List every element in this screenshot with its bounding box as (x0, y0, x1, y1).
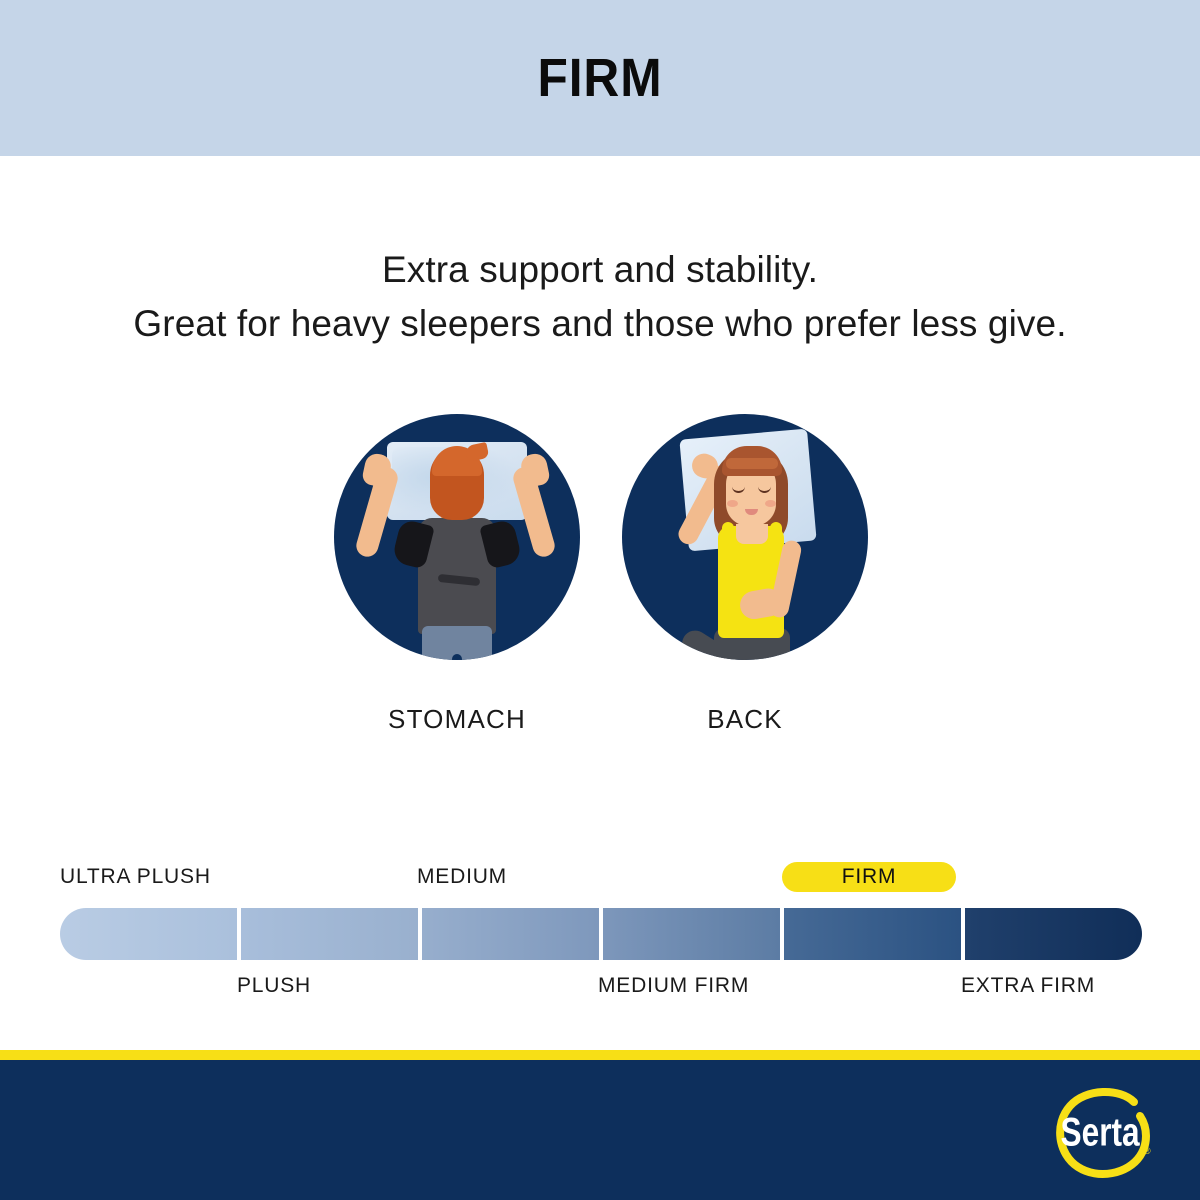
scale-segment-medium-firm[interactable] (603, 908, 780, 960)
sleep-position-label-back: BACK (622, 704, 868, 735)
sleep-position-label-stomach: STOMACH (334, 704, 580, 735)
page-header: FIRM (0, 0, 1200, 156)
serta-logo[interactable]: Serta ® (1048, 1082, 1158, 1182)
firmness-scale-bar[interactable] (60, 908, 1142, 960)
page-title: FIRM (537, 47, 662, 109)
svg-text:Serta: Serta (1061, 1109, 1141, 1155)
hair-band (726, 458, 778, 469)
page-footer: Serta ® (0, 1060, 1200, 1200)
scale-segment-firm[interactable] (784, 908, 961, 960)
stomach-sleeper-illustration (334, 414, 580, 660)
scale-segment-medium[interactable] (422, 908, 599, 960)
left-cheek (727, 500, 738, 507)
footer-accent-stripe (0, 1050, 1200, 1060)
scale-label-medium: MEDIUM (417, 865, 507, 889)
scale-label-ultra-plush: ULTRA PLUSH (60, 865, 211, 889)
svg-text:®: ® (1144, 1146, 1151, 1156)
back-sleeper-illustration (622, 414, 868, 660)
sleep-positions-group: STOMACH BACK (0, 414, 1200, 754)
scale-segment-ultra-plush[interactable] (60, 908, 237, 960)
scale-selected-badge-firm[interactable]: FIRM (782, 862, 956, 892)
scale-segment-plush[interactable] (241, 908, 418, 960)
subtitle-line-1: Extra support and stability. (0, 243, 1200, 297)
chest-skin (736, 524, 768, 544)
right-strap (770, 522, 782, 552)
left-strap (722, 522, 734, 552)
subtitle-block: Extra support and stability. Great for h… (0, 243, 1200, 351)
subtitle-line-2: Great for heavy sleepers and those who p… (0, 297, 1200, 351)
shorts-gap (452, 654, 462, 660)
scale-segment-extra-firm[interactable] (965, 908, 1142, 960)
scale-label-extra-firm: EXTRA FIRM (961, 974, 1095, 998)
right-cheek (765, 500, 776, 507)
scale-label-plush: PLUSH (237, 974, 311, 998)
firmness-scale: ULTRA PLUSH MEDIUM FIRM PLUSH MEDIUM FIR… (60, 862, 1142, 1012)
sleep-position-back: BACK (622, 414, 868, 735)
sleep-position-stomach: STOMACH (334, 414, 580, 735)
scale-label-medium-firm: MEDIUM FIRM (598, 974, 749, 998)
